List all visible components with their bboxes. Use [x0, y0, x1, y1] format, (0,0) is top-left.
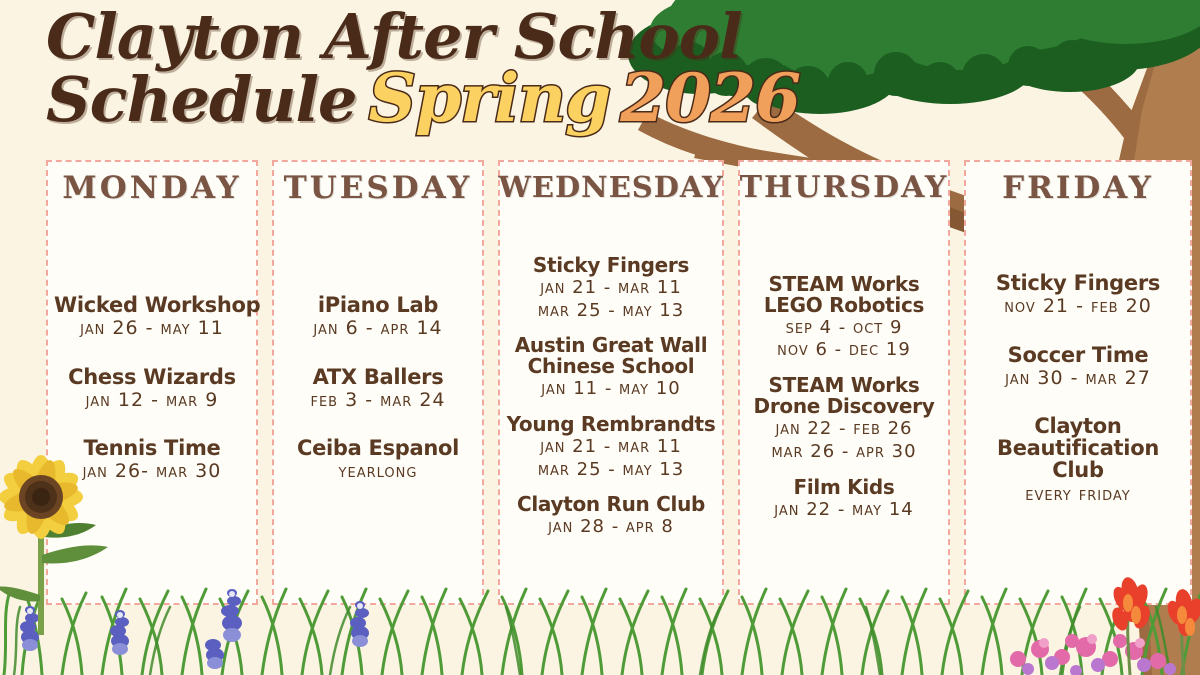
- poster-title: Clayton After School Schedule Spring 202…: [46, 8, 800, 130]
- entry-name: Clayton Beautification Club: [972, 415, 1184, 481]
- entry-date: Jan 12 - Mar 9: [54, 390, 250, 412]
- schedule-entry[interactable]: Clayton Run Club Jan 28 - Apr 8: [506, 494, 716, 538]
- entry-name: Film Kids: [746, 477, 942, 498]
- entry-date: Jan 22 - Feb 26: [746, 419, 942, 440]
- schedule-entry[interactable]: Clayton Beautification Club Every Friday: [972, 415, 1184, 505]
- day-column-wednesday: WEDNESDAY Sticky Fingers Jan 21 - Mar 11…: [498, 160, 724, 605]
- entry-name: Tennis Time: [54, 437, 250, 459]
- day-header-monday: MONDAY: [62, 170, 241, 206]
- schedule-entry[interactable]: Soccer Time Jan 30 - Mar 27: [972, 344, 1184, 390]
- entry-name: Sticky Fingers: [972, 272, 1184, 294]
- schedule-entry[interactable]: iPiano Lab Jan 6 - Apr 14: [280, 294, 476, 340]
- day-header-tuesday: TUESDAY: [284, 170, 473, 206]
- entry-date: Jan 26 - May 11: [54, 318, 250, 340]
- entry-date: Sep 4 - Oct 9: [746, 318, 942, 339]
- title-season: Spring: [368, 67, 610, 130]
- entry-name: Ceiba Espanol: [280, 437, 476, 459]
- entry-date: Yearlong: [280, 461, 476, 483]
- entry-name: Young Rembrandts: [506, 414, 716, 435]
- day-column-thursday: THURSDAY STEAM Works LEGO Robotics Sep 4…: [738, 160, 950, 605]
- entry-date: Jan 22 - May 14: [746, 500, 942, 521]
- entry-name: ATX Ballers: [280, 366, 476, 388]
- schedule-entry[interactable]: Ceiba Espanol Yearlong: [280, 437, 476, 483]
- entry-name: Sticky Fingers: [506, 255, 716, 276]
- entry-list-wednesday: Sticky Fingers Jan 21 - Mar 11 Mar 25 - …: [506, 208, 716, 603]
- schedule-poster: Clayton After School Schedule Spring 202…: [0, 0, 1200, 675]
- schedule-entry[interactable]: Sticky Fingers Nov 21 - Feb 20: [972, 272, 1184, 318]
- day-column-tuesday: TUESDAY iPiano Lab Jan 6 - Apr 14 ATX Ba…: [272, 160, 484, 605]
- pink-wildflower-icon: [1010, 634, 1176, 675]
- entry-date: Every Friday: [972, 484, 1184, 506]
- entry-date: Nov 6 - Dec 19: [746, 340, 942, 361]
- entry-date: Jan 6 - Apr 14: [280, 318, 476, 340]
- schedule-entry[interactable]: Chess Wizards Jan 12 - Mar 9: [54, 366, 250, 412]
- schedule-entry[interactable]: Wicked Workshop Jan 26 - May 11: [54, 294, 250, 340]
- entry-date: Jan 21 - Mar 11: [506, 278, 716, 299]
- entry-list-friday: Sticky Fingers Nov 21 - Feb 20 Soccer Ti…: [972, 210, 1184, 603]
- entry-list-monday: Wicked Workshop Jan 26 - May 11 Chess Wi…: [54, 210, 250, 603]
- schedule-entry[interactable]: Film Kids Jan 22 - May 14: [746, 477, 942, 521]
- schedule-entry[interactable]: STEAM Works LEGO Robotics Sep 4 - Oct 9 …: [746, 274, 942, 361]
- schedule-entry[interactable]: Sticky Fingers Jan 21 - Mar 11 Mar 25 - …: [506, 255, 716, 321]
- schedule-entry[interactable]: ATX Ballers Feb 3 - Mar 24: [280, 366, 476, 412]
- schedule-entry[interactable]: Austin Great Wall Chinese School Jan 11 …: [506, 335, 716, 400]
- entry-name: Austin Great Wall Chinese School: [506, 335, 716, 377]
- entry-date: Mar 25 - May 13: [506, 301, 716, 322]
- schedule-grid: MONDAY Wicked Workshop Jan 26 - May 11 C…: [0, 160, 1200, 605]
- schedule-entry[interactable]: Tennis Time Jan 26- Mar 30: [54, 437, 250, 483]
- entry-name: Chess Wizards: [54, 366, 250, 388]
- entry-date: Jan 26- Mar 30: [54, 461, 250, 483]
- entry-date: Jan 30 - Mar 27: [972, 368, 1184, 390]
- entry-name: iPiano Lab: [280, 294, 476, 316]
- day-header-thursday: THURSDAY: [740, 170, 949, 205]
- day-header-wednesday: WEDNESDAY: [498, 170, 723, 204]
- title-line-2-main: Schedule: [46, 71, 356, 130]
- entry-date: Jan 21 - Mar 11: [506, 437, 716, 458]
- entry-date: Mar 26 - Apr 30: [746, 442, 942, 463]
- entry-date: Jan 28 - Apr 8: [506, 517, 716, 538]
- entry-name: Clayton Run Club: [506, 494, 716, 515]
- entry-name: STEAM Works LEGO Robotics: [746, 274, 942, 316]
- entry-date: Jan 11 - May 10: [506, 379, 716, 400]
- day-header-friday: FRIDAY: [1002, 170, 1154, 206]
- entry-name: Wicked Workshop: [54, 294, 250, 316]
- title-year: 2026: [620, 67, 800, 130]
- schedule-entry[interactable]: STEAM Works Drone Discovery Jan 22 - Feb…: [746, 375, 942, 462]
- entry-date: Feb 3 - Mar 24: [280, 390, 476, 412]
- entry-date: Nov 21 - Feb 20: [972, 296, 1184, 318]
- entry-list-tuesday: iPiano Lab Jan 6 - Apr 14 ATX Ballers Fe…: [280, 210, 476, 603]
- entry-list-thursday: STEAM Works LEGO Robotics Sep 4 - Oct 9 …: [746, 209, 942, 603]
- entry-date: Mar 25 - May 13: [506, 460, 716, 481]
- entry-name: Soccer Time: [972, 344, 1184, 366]
- day-column-friday: FRIDAY Sticky Fingers Nov 21 - Feb 20 So…: [964, 160, 1192, 605]
- entry-name: STEAM Works Drone Discovery: [746, 375, 942, 417]
- day-column-monday: MONDAY Wicked Workshop Jan 26 - May 11 C…: [46, 160, 258, 605]
- schedule-entry[interactable]: Young Rembrandts Jan 21 - Mar 11 Mar 25 …: [506, 414, 716, 480]
